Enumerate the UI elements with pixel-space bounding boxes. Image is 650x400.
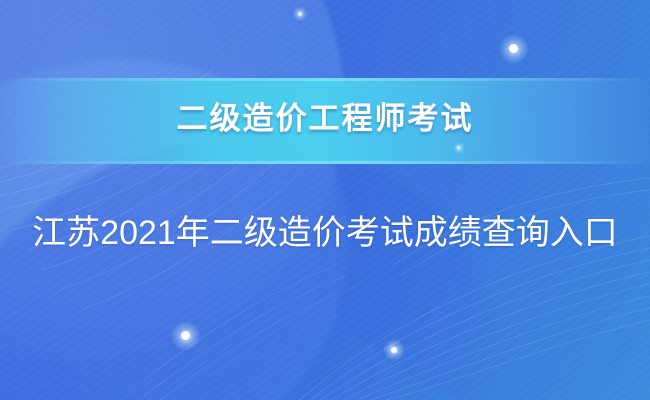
banner-title: 二级造价工程师考试 <box>0 98 650 140</box>
title-band-edge-top <box>0 78 650 81</box>
page-title: 江苏2021年二级造价考试成绩查询入口 <box>0 210 650 256</box>
background-hatch-texture <box>0 0 650 400</box>
promo-banner-image: 二级造价工程师考试 江苏2021年二级造价考试成绩查询入口 <box>0 0 650 400</box>
title-band-edge-bottom <box>0 161 650 164</box>
